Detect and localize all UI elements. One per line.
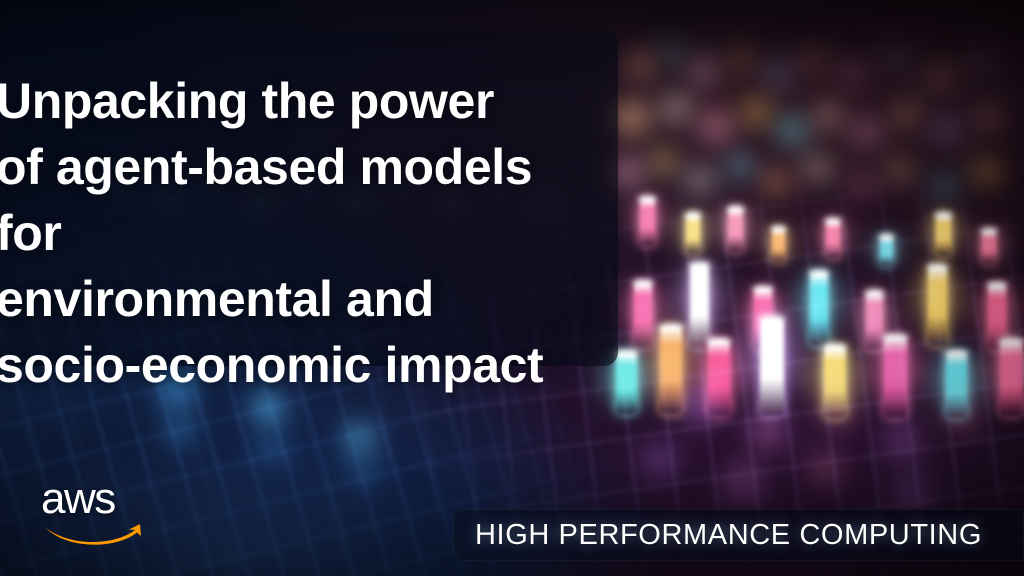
bokeh-light	[929, 113, 963, 147]
bokeh-light	[923, 59, 957, 93]
bokeh-light	[350, 458, 378, 486]
bokeh-light	[659, 91, 693, 125]
page-title: Unpacking the power of agent-based model…	[0, 68, 596, 398]
data-bar-glow	[965, 224, 1013, 263]
bokeh-light	[761, 167, 791, 197]
data-bar-glow	[732, 277, 793, 348]
bokeh-light	[684, 164, 716, 196]
data-bar-glow	[798, 334, 873, 417]
aws-logo[interactable]: aws	[41, 478, 145, 542]
bokeh-light	[885, 155, 915, 185]
bokeh-light	[966, 48, 994, 76]
data-bar-glow	[612, 271, 673, 347]
data-bar	[728, 208, 743, 252]
bokeh-light	[880, 418, 924, 462]
data-bar	[826, 220, 840, 258]
bokeh-light	[942, 396, 982, 436]
data-bar-glow	[731, 301, 813, 414]
bokeh-light	[974, 104, 1002, 132]
data-bar-glow	[864, 231, 908, 266]
bokeh-light	[891, 99, 921, 129]
bokeh-light	[805, 447, 847, 489]
data-bar	[988, 284, 1006, 350]
bokeh-light	[848, 114, 884, 150]
data-bar-glow	[846, 282, 904, 349]
data-bar	[754, 288, 772, 350]
bokeh-light	[343, 421, 377, 455]
data-bar	[982, 230, 996, 264]
data-bar-glow	[974, 327, 1024, 414]
data-bar-glow	[634, 311, 709, 412]
bokeh-light	[677, 381, 723, 427]
bokeh-light	[848, 170, 876, 198]
bokeh-light	[721, 459, 767, 505]
data-bar	[936, 214, 951, 256]
data-bar-glow	[788, 259, 849, 344]
data-bar	[1000, 340, 1022, 416]
bokeh-light	[774, 112, 810, 148]
data-bar	[686, 214, 700, 254]
data-bar	[772, 228, 785, 262]
bokeh-light	[931, 173, 957, 199]
data-bar-glow	[622, 190, 673, 245]
hpc-category-banner: HIGH PERFORMANCE COMPUTING	[453, 509, 1024, 561]
data-bar	[616, 352, 637, 414]
bokeh-light	[741, 97, 771, 127]
data-bar-glow	[921, 341, 992, 417]
data-bar	[640, 198, 655, 246]
bokeh-light	[817, 389, 859, 431]
bokeh-light	[727, 43, 757, 73]
bokeh-light	[639, 439, 681, 481]
data-bar	[810, 272, 828, 346]
data-bar	[760, 318, 784, 416]
headline-panel: Unpacking the power of agent-based model…	[0, 30, 618, 366]
bokeh-light	[746, 408, 790, 452]
data-bar-glow	[809, 213, 857, 257]
bokeh-light	[612, 98, 652, 138]
data-bar-glow	[966, 273, 1024, 349]
data-bar-glow	[905, 252, 970, 344]
bokeh-light	[727, 153, 753, 179]
bokeh-light	[686, 52, 722, 88]
bokeh-light	[650, 148, 678, 176]
bokeh-light	[836, 56, 868, 88]
data-bar-glow	[756, 222, 800, 261]
bokeh-light	[812, 100, 844, 132]
aws-wordmark: aws	[41, 478, 145, 520]
bokeh-light	[163, 413, 197, 447]
data-bar	[708, 340, 730, 416]
data-bar	[824, 346, 846, 418]
data-bar	[880, 236, 893, 266]
data-bar-glow	[710, 200, 761, 251]
bokeh-light	[890, 470, 934, 514]
bokeh-light	[623, 47, 657, 81]
bokeh-light	[257, 433, 287, 463]
data-bar	[946, 352, 967, 418]
data-bar	[690, 264, 709, 348]
data-bar	[928, 266, 947, 346]
data-bar-glow	[682, 327, 757, 414]
bokeh-light	[881, 43, 911, 73]
data-bar	[884, 336, 907, 418]
bokeh-light	[802, 152, 834, 184]
bokeh-light	[761, 57, 795, 91]
data-bar	[660, 326, 682, 414]
data-bar-glow	[856, 322, 934, 416]
data-bar-glow	[918, 207, 969, 255]
amazon-smile-arrow-icon	[41, 522, 145, 546]
data-bar-glow	[667, 250, 732, 347]
data-bar	[866, 292, 883, 350]
hpc-banner-label: HIGH PERFORMANCE COMPUTING	[453, 519, 982, 552]
bokeh-light	[798, 46, 826, 74]
hero-banner-image: Unpacking the power of agent-based model…	[0, 0, 1024, 576]
data-bar	[634, 282, 652, 348]
bokeh-light	[971, 157, 1001, 187]
bokeh-light	[697, 107, 735, 145]
data-bar-glow	[669, 207, 717, 253]
bokeh-light	[658, 38, 686, 66]
